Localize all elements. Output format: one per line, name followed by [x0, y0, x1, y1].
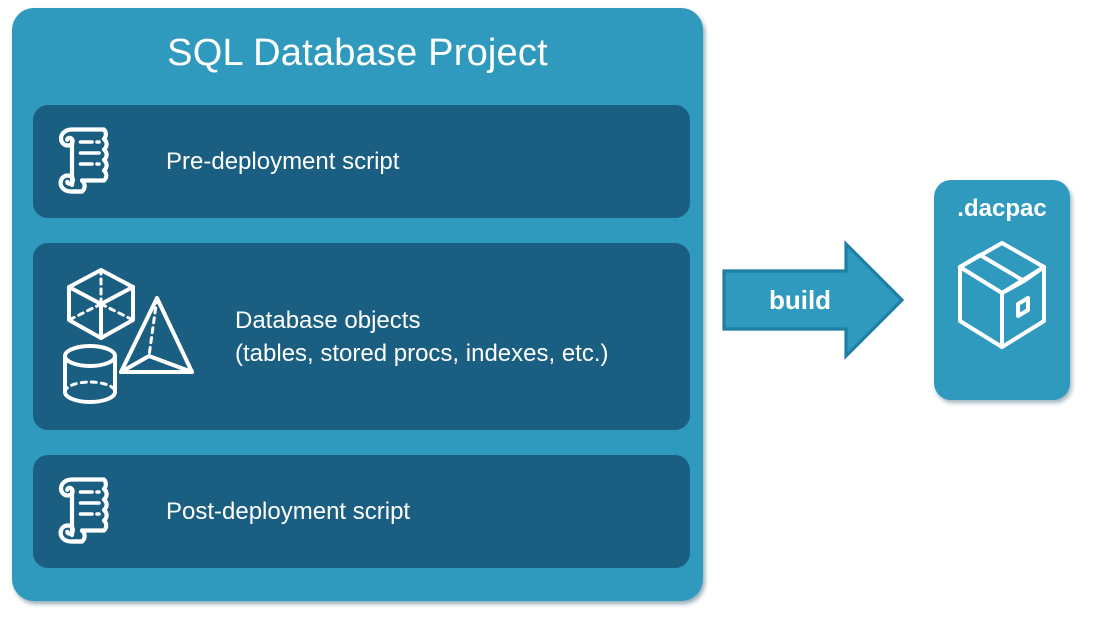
panel-pre-deployment[interactable]: Pre-deployment script	[33, 105, 690, 218]
dacpac-output-card: .dacpac	[934, 180, 1070, 400]
scroll-icon	[52, 123, 124, 201]
dacpac-title: .dacpac	[934, 193, 1070, 225]
package-box-icon	[952, 235, 1052, 380]
panel-database-objects[interactable]: Database objects (tables, stored procs, …	[33, 243, 690, 430]
panel-post-deployment[interactable]: Post-deployment script	[33, 455, 690, 568]
build-arrow	[722, 240, 904, 360]
arrow-right-icon	[724, 244, 902, 356]
diagram-canvas: SQL Database Project	[0, 0, 1100, 619]
panel-pre-deployment-label: Pre-deployment script	[166, 145, 399, 178]
panel-database-objects-label: Database objects (tables, stored procs, …	[235, 304, 609, 370]
sql-database-project-container: SQL Database Project	[12, 8, 703, 601]
project-title: SQL Database Project	[12, 28, 703, 78]
panel-post-deployment-label: Post-deployment script	[166, 495, 410, 528]
3d-shapes-icon	[49, 262, 209, 412]
scroll-icon	[52, 473, 124, 551]
